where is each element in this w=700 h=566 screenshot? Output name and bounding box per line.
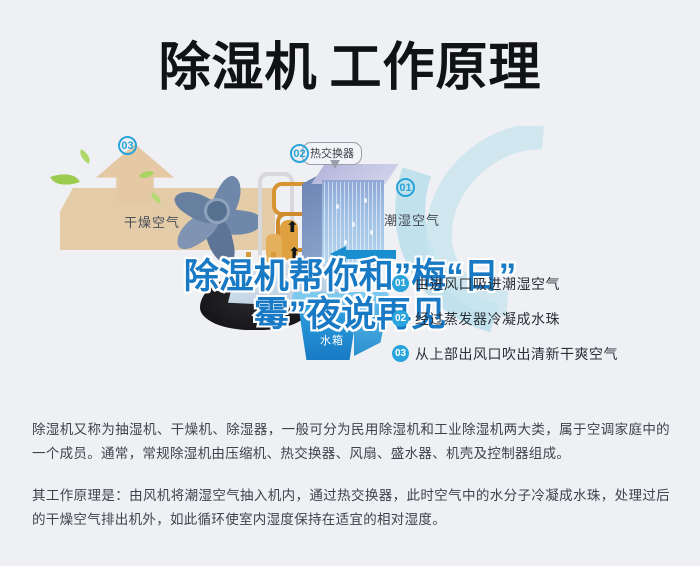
step-badge: 03 (392, 345, 409, 362)
step-badge: 02 (392, 310, 409, 327)
paragraph-definition: 除湿机又称为抽湿机、干燥机、除湿器，一般可分为民用除湿机和工业除湿机两大类，属于… (32, 418, 670, 466)
leaf-icon (50, 168, 80, 191)
body-copy: 除湿机又称为抽湿机、干燥机、除湿器，一般可分为民用除湿机和工业除湿机两大类，属于… (32, 418, 670, 532)
title-part-1: 除湿机 (158, 39, 317, 97)
title-text: 除湿机工作原理 (158, 42, 541, 94)
condensate-drop (336, 204, 339, 209)
page-title: 除湿机工作原理 (0, 20, 700, 115)
process-steps: 01 由进风口吸进潮湿空气 02 经过蒸发器冷凝成水珠 03 从上部出风口吹出清… (392, 266, 692, 371)
step-label: 由进风口吸进潮湿空气 (415, 274, 560, 294)
diagram-badge-02: 02 (290, 144, 309, 163)
step-label: 经过蒸发器冷凝成水珠 (415, 309, 560, 329)
process-step: 03 从上部出风口吹出清新干爽空气 (392, 336, 692, 371)
inlet-arrow-icon (330, 246, 396, 262)
condensate-drop (370, 230, 373, 235)
water-tank-side (354, 304, 388, 356)
humid-air-label: 潮湿空气 (384, 210, 440, 229)
paragraph-principle: 其工作原理是：由风机将潮湿空气抽入机内，通过热交换器，此时空气中的水分子冷凝成水… (32, 484, 670, 532)
callout-tail (330, 160, 340, 169)
diagram-badge-03: 03 (118, 136, 137, 155)
title-part-2: 工作原理 (330, 39, 542, 97)
fan-hub (204, 198, 230, 224)
leaf-icon (77, 149, 94, 164)
condensate-drop (364, 198, 367, 203)
diagram-badge-01: 01 (396, 178, 415, 197)
step-label: 从上部出风口吹出清新干爽空气 (415, 344, 618, 364)
process-step: 01 由进风口吸进潮湿空气 (392, 266, 692, 301)
arrow-up-icon: ⬆ (286, 220, 299, 235)
water-tank-label: 水箱 (320, 332, 344, 348)
water-tank-front: 水箱 (298, 304, 358, 360)
heat-exchanger-side (302, 172, 324, 272)
infographic-page: 除湿机工作原理 干燥空气 ⬆ (0, 0, 700, 566)
water-tank: 水箱 (292, 292, 390, 364)
process-step: 02 经过蒸发器冷凝成水珠 (392, 301, 692, 336)
step-badge: 01 (392, 275, 409, 292)
condensate-drop (344, 240, 347, 245)
arrow-shaft (344, 250, 396, 259)
condensate-drop (352, 222, 355, 227)
arrow-up-icon: ⬆ (288, 246, 301, 261)
